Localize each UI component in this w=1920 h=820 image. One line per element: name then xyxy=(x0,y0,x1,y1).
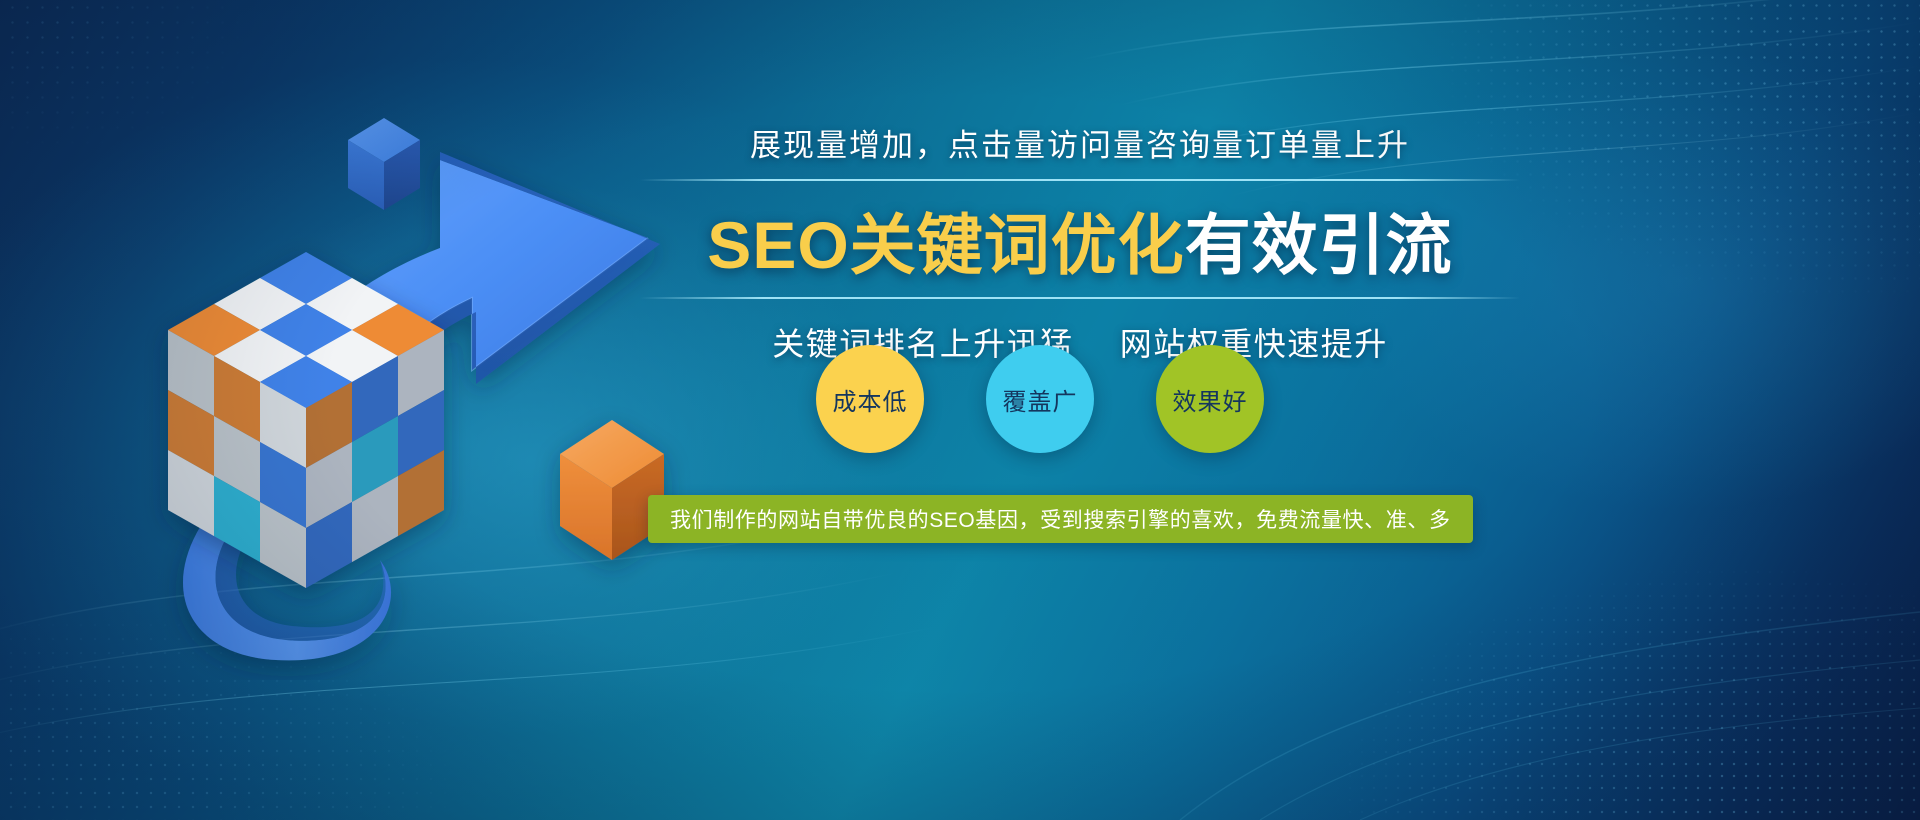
feature-badges: 成本低 覆盖广 效果好 xyxy=(800,345,1280,465)
eyebrow-text: 展现量增加，点击量访问量咨询量订单量上升 xyxy=(640,120,1520,179)
badge-cost-low: 成本低 xyxy=(816,345,924,453)
footer-highlight-bar: 我们制作的网站自带优良的SEO基因，受到搜索引擎的喜欢，免费流量快、准、多 xyxy=(648,495,1473,543)
badge-effect-good: 效果好 xyxy=(1156,345,1264,453)
badge-coverage-wide: 覆盖广 xyxy=(986,345,1094,453)
page-title: SEO关键词优化有效引流 xyxy=(640,181,1520,297)
floating-blue-cube xyxy=(348,118,420,210)
headline-white-part: 有效引流 xyxy=(1185,208,1453,282)
seo-promo-banner: 展现量增加，点击量访问量咨询量订单量上升 SEO关键词优化有效引流 关键词排名上… xyxy=(0,0,1920,820)
headline-gold-part: SEO关键词优化 xyxy=(707,208,1184,282)
headline-block: 展现量增加，点击量访问量咨询量订单量上升 SEO关键词优化有效引流 关键词排名上… xyxy=(640,120,1520,365)
